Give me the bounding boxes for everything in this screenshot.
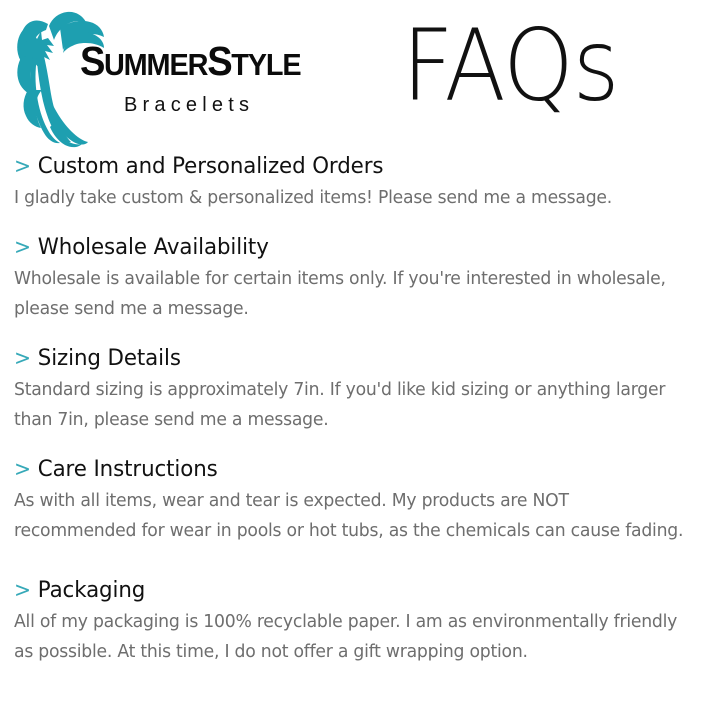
faq-heading-label: Packaging	[38, 577, 145, 605]
faq-section-care: > Care Instructions As with all items, w…	[14, 455, 704, 546]
brand-name-part3: S	[207, 38, 231, 84]
brand-wordmark: SUMMERSTYLE Bracelets	[80, 39, 310, 129]
faq-section-sizing: > Sizing Details Standard sizing is appr…	[14, 344, 704, 435]
faq-section-list: > Custom and Personalized Orders I gladl…	[14, 152, 704, 667]
chevron-right-icon: >	[14, 344, 31, 372]
faq-heading-label: Sizing Details	[38, 345, 181, 373]
brand-lockup: SUMMERSTYLE Bracelets	[8, 6, 308, 151]
faq-body-text: Wholesale is available for certain items…	[14, 264, 694, 324]
chevron-right-icon: >	[14, 455, 31, 483]
page-header: SUMMERSTYLE Bracelets FAQs	[0, 0, 720, 150]
faq-heading: > Care Instructions	[14, 455, 683, 484]
faq-body-text: As with all items, wear and tear is expe…	[14, 486, 694, 546]
brand-name-part2: UMMER	[104, 47, 207, 82]
faq-body-text: I gladly take custom & personalized item…	[14, 183, 694, 213]
page-title: FAQs	[402, 10, 619, 122]
faq-page: SUMMERSTYLE Bracelets FAQs > Custom and …	[0, 0, 720, 720]
brand-name: SUMMERSTYLE	[80, 39, 294, 87]
faq-section-packaging: > Packaging All of my packaging is 100% …	[14, 576, 704, 667]
faq-section-custom-orders: > Custom and Personalized Orders I gladl…	[14, 152, 704, 213]
faq-heading-label: Care Instructions	[38, 456, 218, 484]
faq-heading: > Custom and Personalized Orders	[14, 152, 683, 181]
faq-heading-label: Custom and Personalized Orders	[38, 153, 384, 181]
brand-subtitle: Bracelets	[124, 93, 310, 117]
brand-name-part4: TYLE	[231, 47, 300, 82]
faq-section-wholesale: > Wholesale Availability Wholesale is av…	[14, 233, 704, 324]
faq-body-text: Standard sizing is approximately 7in. If…	[14, 375, 694, 435]
faq-heading-label: Wholesale Availability	[38, 234, 269, 262]
faq-heading: > Packaging	[14, 576, 683, 605]
faq-heading: > Sizing Details	[14, 344, 683, 373]
chevron-right-icon: >	[14, 152, 31, 180]
chevron-right-icon: >	[14, 233, 31, 261]
brand-name-part1: S	[80, 38, 104, 84]
faq-body-text: All of my packaging is 100% recyclable p…	[14, 607, 694, 667]
chevron-right-icon: >	[14, 576, 31, 604]
faq-heading: > Wholesale Availability	[14, 233, 683, 262]
